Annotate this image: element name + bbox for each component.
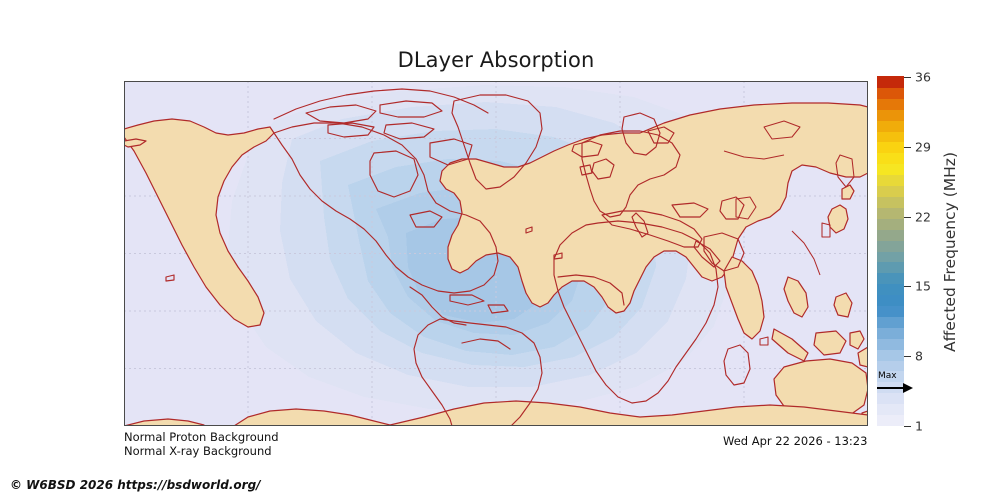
colorbar-band xyxy=(877,327,904,339)
colorbar-band xyxy=(877,153,904,165)
colorbar-tick-mark xyxy=(904,77,911,78)
colorbar-band xyxy=(877,251,904,263)
colorbar-band xyxy=(877,360,904,372)
colorbar-band xyxy=(877,295,904,307)
figure-root: DLayer Absorption xyxy=(0,0,1000,500)
colorbar-band xyxy=(877,218,904,230)
colorbar-band xyxy=(877,229,904,241)
colorbar-band xyxy=(877,87,904,99)
colorbar-max-label: Max xyxy=(878,371,897,381)
colorbar-band xyxy=(877,76,904,88)
colorbar-band xyxy=(877,207,904,219)
colorbar-title: Affected Frequency (MHz) xyxy=(939,77,961,426)
colorbar-band xyxy=(877,98,904,110)
colorbar-band xyxy=(877,131,904,143)
chart-title: DLayer Absorption xyxy=(0,48,992,72)
colorbar-tick-label: 22 xyxy=(915,209,931,224)
colorbar-band xyxy=(877,338,904,350)
colorbar-tick-label: 36 xyxy=(915,70,931,85)
colorbar-band xyxy=(877,164,904,176)
colorbar-band xyxy=(877,142,904,154)
colorbar-band xyxy=(877,196,904,208)
colorbar-tick-label: 1 xyxy=(915,419,923,434)
colorbar-band xyxy=(877,175,904,187)
colorbar-tick-mark xyxy=(904,147,911,148)
note-xray-background: Normal X-ray Background xyxy=(124,444,272,458)
colorbar-band xyxy=(877,305,904,317)
colorbar-tick-label: 8 xyxy=(915,349,923,364)
map-canvas xyxy=(124,81,868,426)
colorbar-band xyxy=(877,349,904,361)
colorbar-tick-mark xyxy=(904,426,911,427)
timestamp-label: Wed Apr 22 2026 - 13:23 xyxy=(723,434,867,448)
colorbar-band xyxy=(877,185,904,197)
arrow-right-icon xyxy=(877,382,913,394)
colorbar-max-marker: Max xyxy=(877,372,917,394)
colorbar-tick-mark xyxy=(904,286,911,287)
colorbar-band xyxy=(877,316,904,328)
colorbar-tick-mark xyxy=(904,217,911,218)
colorbar-tick-mark xyxy=(904,356,911,357)
world-map xyxy=(124,81,868,426)
colorbar-band xyxy=(877,262,904,274)
note-proton-background: Normal Proton Background xyxy=(124,430,279,444)
colorbar-band xyxy=(877,284,904,296)
colorbar-band xyxy=(877,109,904,121)
colorbar-band xyxy=(877,393,904,405)
colorbar-band xyxy=(877,415,904,427)
colorbar-title-text: Affected Frequency (MHz) xyxy=(941,152,959,352)
colorbar-band xyxy=(877,273,904,285)
colorbar-tick-label: 15 xyxy=(915,279,931,294)
colorbar-tick-label: 29 xyxy=(915,139,931,154)
colorbar-band xyxy=(877,240,904,252)
colorbar-band xyxy=(877,120,904,132)
colorbar-band xyxy=(877,404,904,416)
copyright-label: © W6BSD 2026 https://bsdworld.org/ xyxy=(10,478,261,492)
